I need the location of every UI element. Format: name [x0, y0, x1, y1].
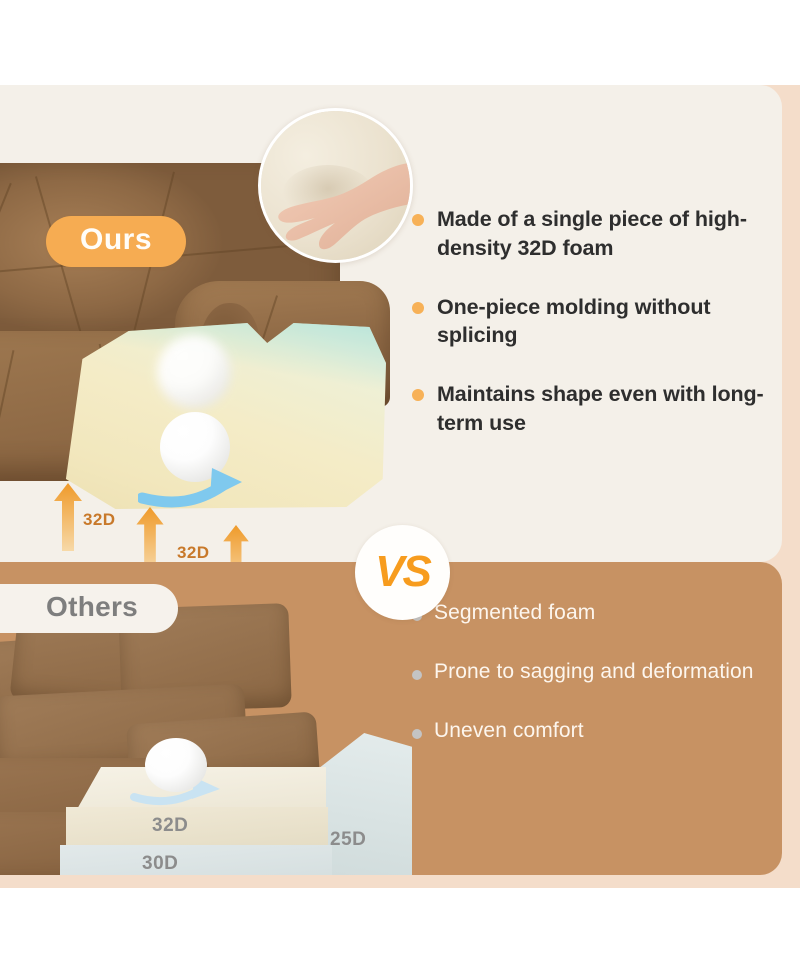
support-arrow-icon: [222, 525, 250, 562]
falling-ball-blurred: [157, 335, 231, 409]
others-bullet-text: Prone to sagging and deformation: [434, 659, 754, 686]
versus-label: VS: [375, 550, 430, 594]
density-label-32d: 32D: [177, 543, 209, 562]
ours-label-pill: Ours: [46, 216, 186, 267]
bullet-dot-icon: [412, 389, 424, 401]
foam-block-others: 32D 30D 25D: [58, 767, 388, 875]
hand-icon: [269, 159, 413, 263]
bullet-dot-icon: [412, 670, 422, 680]
comparison-graphic: 32D 32D Ours Made of a single piece of h…: [0, 85, 800, 888]
foam-layer-32d: [66, 807, 328, 849]
foam-layer-30d: [60, 845, 332, 875]
bullet-dot-icon: [412, 302, 424, 314]
support-arrow-icon: [54, 483, 82, 551]
list-item: Segmented foam: [412, 600, 772, 627]
ours-benefits-list: Made of a single piece of high-density 3…: [412, 205, 772, 468]
density-label-30d: 30D: [142, 853, 178, 875]
others-drawbacks-list: Segmented foam Prone to sagging and defo…: [412, 600, 772, 777]
bullet-dot-icon: [412, 729, 422, 739]
density-label-25d: 25D: [330, 829, 366, 851]
versus-badge: VS: [355, 525, 450, 620]
ours-bullet-text: Maintains shape even with long-term use: [437, 380, 772, 438]
density-label-32d: 32D: [83, 510, 115, 530]
support-arrow-icon: [136, 507, 164, 562]
others-bullet-text: Uneven comfort: [434, 718, 584, 745]
foam-layer-25d: [320, 733, 412, 875]
others-bullet-text: Segmented foam: [434, 600, 595, 627]
ours-bullet-text: One-piece molding without splicing: [437, 293, 772, 351]
list-item: Uneven comfort: [412, 718, 772, 745]
list-item: Made of a single piece of high-density 3…: [412, 205, 772, 263]
density-label-32d: 32D: [152, 815, 188, 837]
ours-bullet-text: Made of a single piece of high-density 3…: [437, 205, 772, 263]
list-item: Maintains shape even with long-term use: [412, 380, 772, 438]
list-item: One-piece molding without splicing: [412, 293, 772, 351]
bullet-dot-icon: [412, 214, 424, 226]
list-item: Prone to sagging and deformation: [412, 659, 772, 686]
resting-ball: [145, 738, 207, 792]
ours-panel: 32D 32D Ours Made of a single piece of h…: [0, 85, 782, 562]
others-label-pill: Others: [0, 584, 178, 633]
hand-press-inset: [258, 108, 413, 263]
